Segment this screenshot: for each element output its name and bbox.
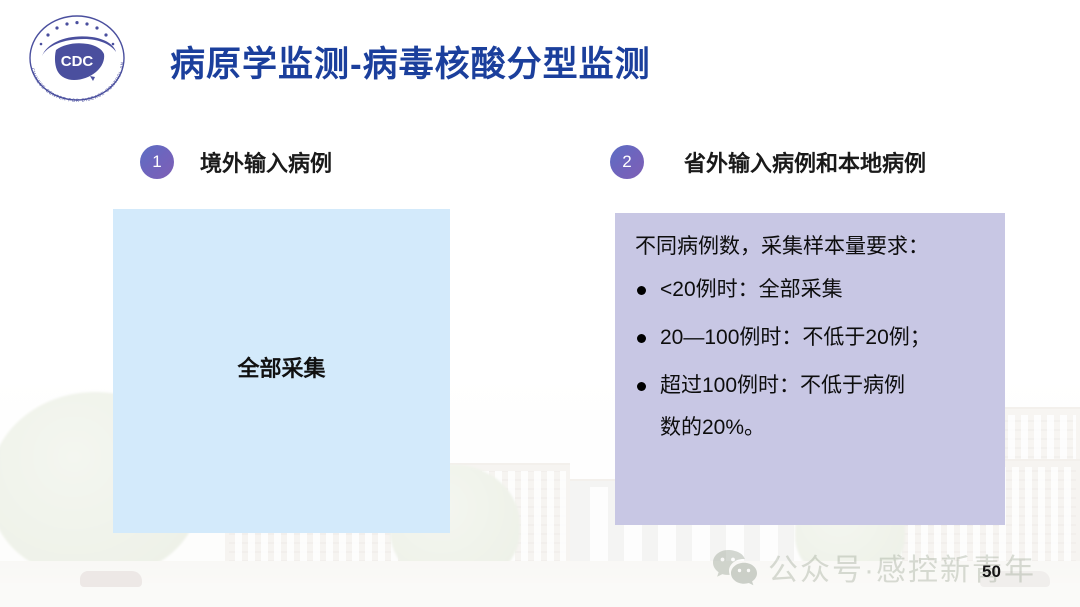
photo-car bbox=[80, 571, 142, 587]
list-item: 超过100例时：不低于病例 数的20%。 bbox=[633, 371, 987, 443]
bullet-dot-icon bbox=[637, 286, 646, 295]
bullet-dot-icon bbox=[637, 382, 646, 391]
list-item-line1: 超过100例时：不低于病例 bbox=[660, 374, 905, 397]
page-number: 50 bbox=[982, 562, 1001, 582]
section-badge-1: 1 bbox=[140, 145, 174, 179]
panel-blue-text: 全部采集 bbox=[237, 351, 325, 383]
panel-domestic-imported-and-local: 不同病例数，采集样本量要求： <20例时：全部采集 20—100例时：不低于20… bbox=[615, 213, 1005, 525]
panel-overseas-imported: 全部采集 bbox=[113, 209, 450, 533]
china-cdc-logo-icon: CHINESE CENTER FOR DISEASE CONTROL AND P… bbox=[18, 10, 136, 106]
list-item-line1: 20—100例时：不低于20例； bbox=[660, 326, 931, 349]
sampling-requirement-list: <20例时：全部采集 20—100例时：不低于20例； 超过100例时：不低于病… bbox=[633, 275, 987, 442]
list-item: <20例时：全部采集 bbox=[633, 275, 987, 305]
panel-purple-lead: 不同病例数，采集样本量要求： bbox=[635, 235, 987, 259]
list-item-line2: 数的20%。 bbox=[660, 413, 987, 443]
list-item-line1: <20例时：全部采集 bbox=[660, 278, 843, 301]
section-heading-1: 1 境外输入病例 bbox=[140, 145, 332, 179]
section-badge-2: 2 bbox=[610, 145, 644, 179]
section-label-1: 境外输入病例 bbox=[200, 146, 332, 178]
section-heading-2: 2 省外输入病例和本地病例 bbox=[610, 145, 926, 179]
wechat-icon bbox=[712, 548, 758, 586]
list-item: 20—100例时：不低于20例； bbox=[633, 323, 987, 353]
section-label-2: 省外输入病例和本地病例 bbox=[684, 146, 926, 178]
page-title: 病原学监测-病毒核酸分型监测 bbox=[170, 36, 651, 87]
photo-ground bbox=[0, 561, 1080, 607]
slide-canvas: CHINESE CENTER FOR DISEASE CONTROL AND P… bbox=[0, 0, 1080, 607]
photo-road bbox=[0, 583, 1080, 607]
svg-text:CDC: CDC bbox=[61, 53, 94, 70]
bullet-dot-icon bbox=[637, 334, 646, 343]
